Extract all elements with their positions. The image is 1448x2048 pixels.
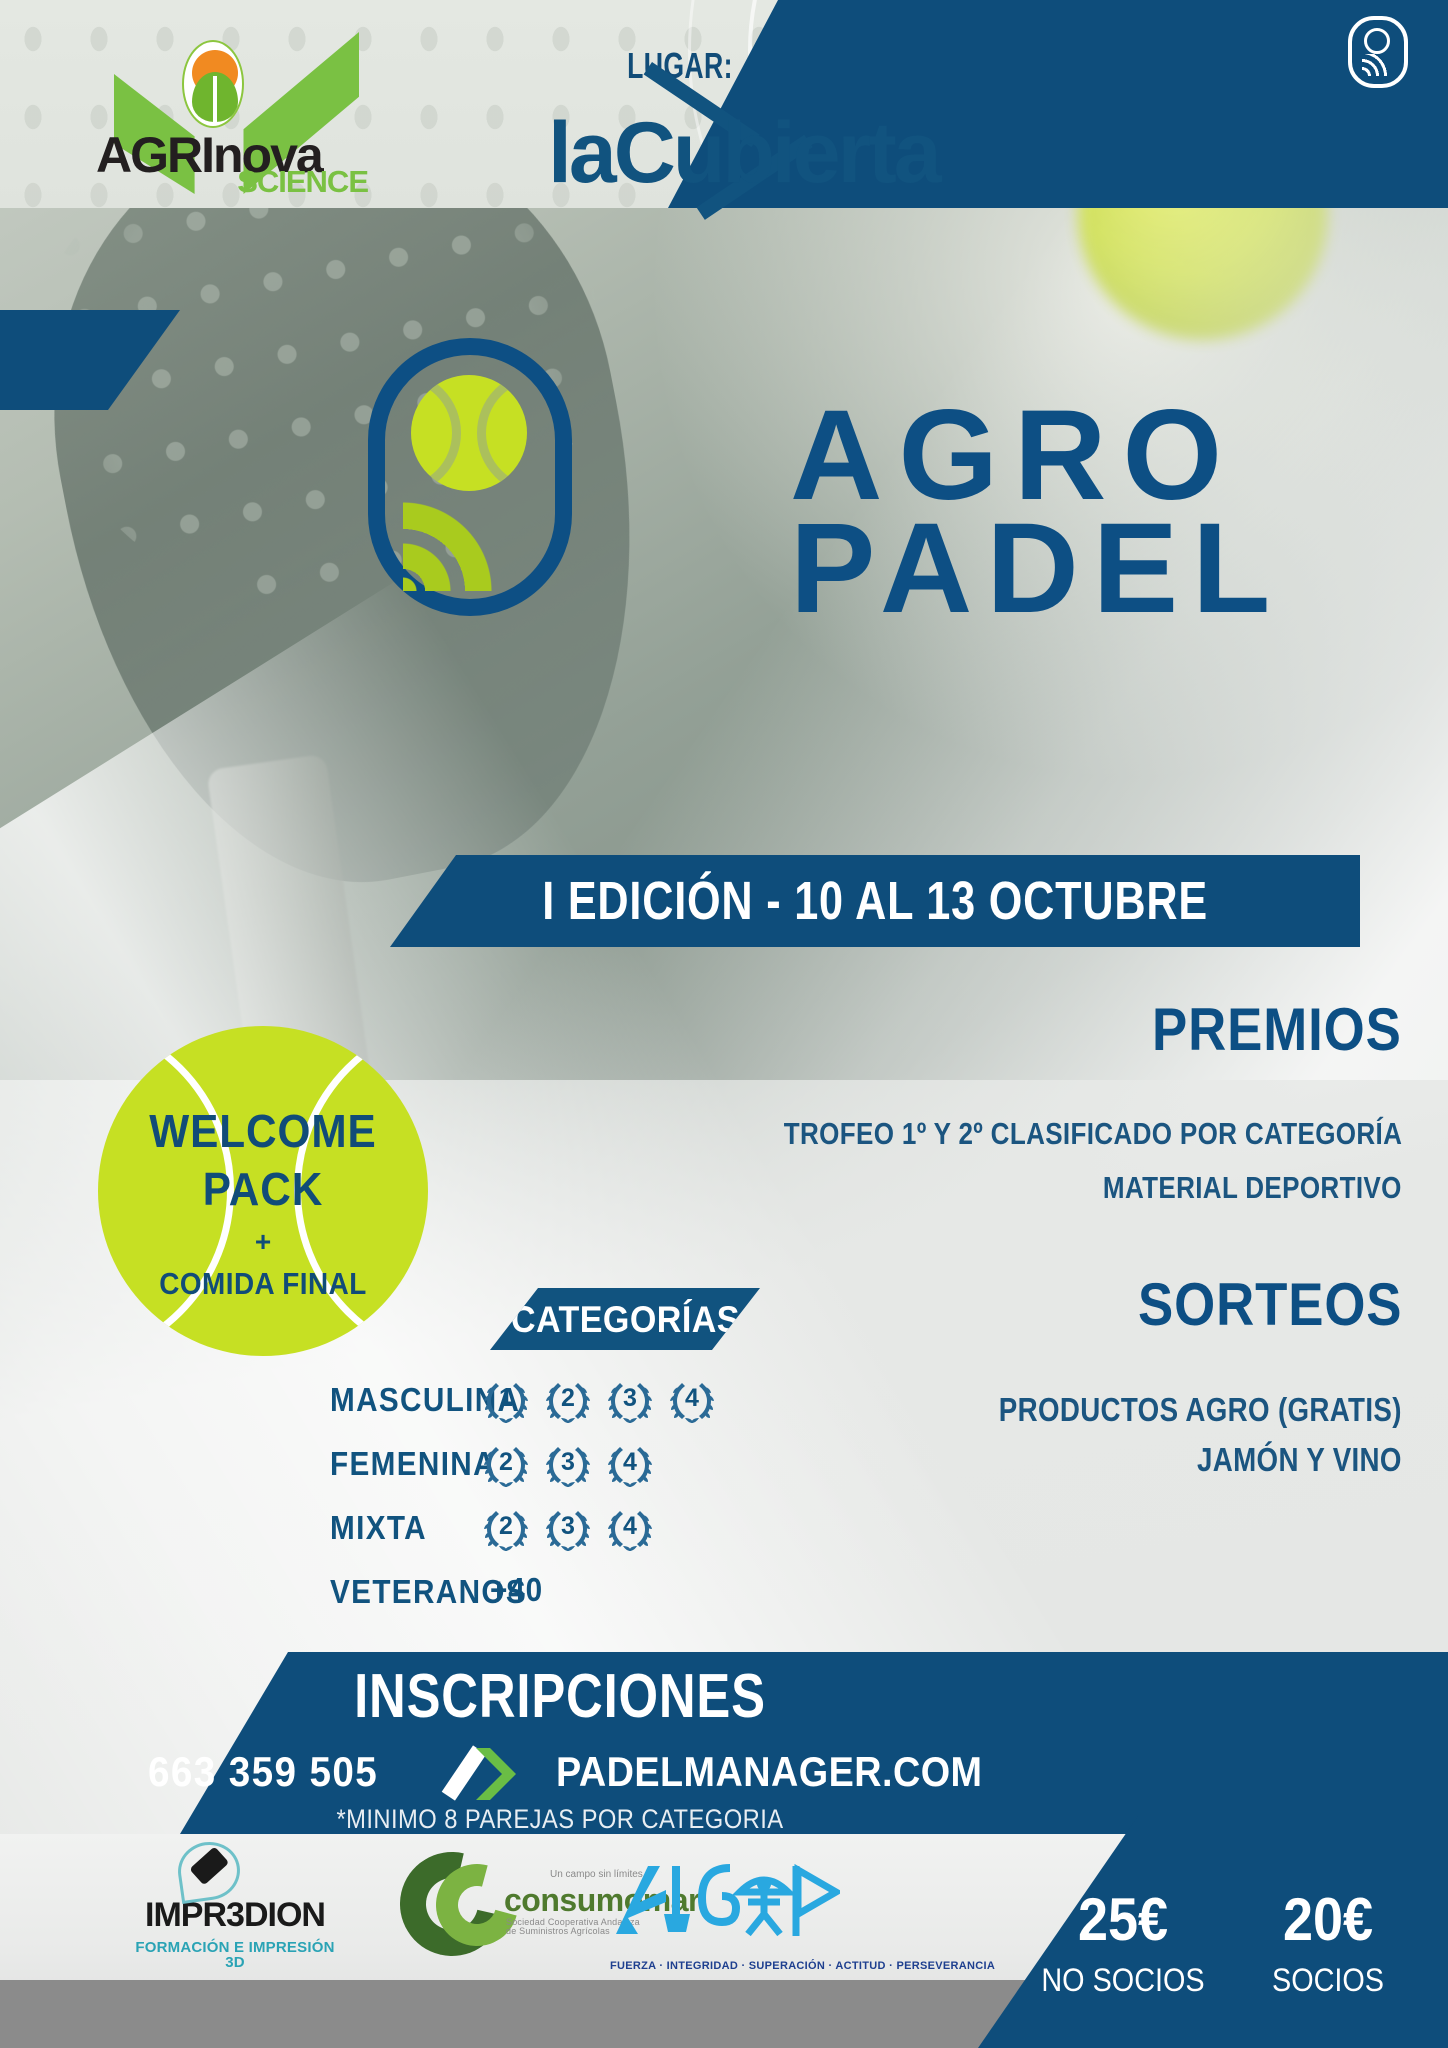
laurel-wreath-icon: 3 [604,1375,656,1427]
agrinova-wordmark: AGRInova SCIENCE [96,132,366,179]
sorteos-line-2: JAMÓN Y VINO [1197,1443,1402,1476]
price-socios-label: SOCIOS [1243,1964,1414,1996]
laurel-wreath-icon: 3 [542,1503,594,1555]
agri-name-main: AGRI [96,127,213,183]
price-no-socios-label: NO SOCIOS [1033,1964,1213,1996]
laurel-wreath-icon: 1 [480,1375,532,1427]
categoria-level-number: 2 [480,1450,532,1475]
categorias-list: MASCULINA1234FEMENINA234MIXTA234VETERANO… [330,1375,780,1631]
inscripciones-phone[interactable]: 663 359 505 [148,1751,378,1793]
poster-root: AGRInova SCIENCE LUGAR: laCubierta AGRO … [0,0,1448,2048]
venue-name: laCubierta [548,110,939,196]
impr3dion-post: ION [268,1896,325,1934]
categoria-row: VETERANOS+40 [330,1567,780,1631]
fisap-tagline: FUERZA · INTEGRIDAD · SUPERACIÓN · ACTIT… [610,1961,995,1972]
impr3dion-num: 3D [226,1896,267,1934]
categorias-banner-text: CATEGORÍAS [510,1301,739,1338]
categoria-row: MIXTA234 [330,1503,780,1567]
categoria-levels: 1234 [480,1375,718,1427]
laurel-wreath-icon: 3 [542,1439,594,1491]
laurel-wreath-icon: 2 [480,1503,532,1555]
hero-title-line1: AGRO [790,400,1284,513]
mark-ball-seam-right [477,375,527,491]
categoria-level-number: 3 [542,1450,594,1475]
impr3dion-wordmark: IMPR3DION [130,1898,340,1932]
date-banner: I EDICIÓN - 10 AL 13 OCTUBRE [390,855,1360,947]
categoria-row: FEMENINA234 [330,1439,780,1503]
inscripciones-note: *MINIMO 8 PAREJAS POR CATEGORIA [226,1806,895,1833]
laurel-wreath-icon: 4 [666,1375,718,1427]
sponsor-fisap: FUERZA · INTEGRIDAD · SUPERACIÓN · ACTIT… [610,1858,840,1968]
categoria-note: +40 [490,1573,543,1606]
categoria-levels: 234 [480,1503,656,1555]
mark-ball-seam-left [411,375,461,491]
welcome-pack-ball: WELCOME PACK + COMIDA FINAL [98,1026,428,1356]
laurel-wreath-icon: 4 [604,1503,656,1555]
price-socios-amount: 20€ [1243,1890,1414,1950]
categoria-level-number: 2 [480,1514,532,1539]
categoria-level-number: 3 [604,1386,656,1411]
welcome-pack-plus: + [98,1228,428,1256]
price-no-socios-amount: 25€ [1033,1890,1213,1950]
sorteos-line-1: PRODUCTOS AGRO (GRATIS) [999,1393,1402,1426]
hero-title-line2: PADEL [790,513,1284,626]
corner-mark-icon [1348,16,1408,88]
premios-heading: PREMIOS [1152,1000,1402,1060]
date-banner-text: I EDICIÓN - 10 AL 13 OCTUBRE [542,874,1208,928]
agropadel-mark-icon [368,338,572,616]
categoria-level-number: 1 [480,1386,532,1411]
premios-line-2: MATERIAL DEPORTIVO [1103,1172,1402,1203]
venue-logo: laCubierta [548,110,1018,206]
laurel-wreath-icon: 4 [604,1439,656,1491]
corner-ball-shape [1364,28,1390,54]
categoria-level-number: 4 [604,1450,656,1475]
hero-title: AGRO PADEL [790,400,1284,625]
padelmanager-logo-icon [452,1750,540,1796]
welcome-pack-line2: PACK [111,1166,415,1212]
impr3dion-tagline: FORMACIÓN E IMPRESIÓN 3D [130,1940,340,1970]
laurel-wreath-icon: 2 [542,1375,594,1427]
agri-seed-icon [182,40,244,128]
price-no-socios: 25€ NO SOCIOS [1023,1890,1223,1996]
sponsor-impr3dion: IMPR3DION FORMACIÓN E IMPRESIÓN 3D [130,1898,340,1970]
mark-ball-shape [411,375,527,491]
inscripciones-heading: INSCRIPCIONES [248,1666,871,1728]
categoria-row: MASCULINA1234 [330,1375,780,1439]
laurel-wreath-icon: 2 [480,1439,532,1491]
categoria-level-number: 4 [604,1514,656,1539]
mark-wifi-shape [403,485,531,591]
price-socios: 20€ SOCIOS [1233,1890,1423,1996]
categoria-levels: 234 [480,1439,656,1491]
categoria-name: MIXTA [330,1511,427,1544]
categoria-level-number: 3 [542,1514,594,1539]
sorteos-heading: SORTEOS [1138,1275,1402,1335]
agri-name-tag: SCIENCE [237,166,368,197]
categoria-level-number: 2 [542,1386,594,1411]
inscripciones-site[interactable]: PADELMANAGER.COM [556,1751,983,1793]
agri-stem-shape [213,76,217,124]
categoria-name: FEMENINA [330,1447,496,1480]
categoria-level-number: 4 [666,1386,718,1411]
corner-wifi-shape [1362,54,1392,76]
premios-line-1: TROFEO 1º Y 2º CLASIFICADO POR CATEGORÍA [784,1118,1402,1149]
agrinova-logo: AGRInova SCIENCE [96,26,366,196]
welcome-pack-line1: WELCOME [111,1108,415,1154]
welcome-pack-line3: COMIDA FINAL [115,1268,412,1299]
fisap-pictogram-icon [610,1858,840,1944]
